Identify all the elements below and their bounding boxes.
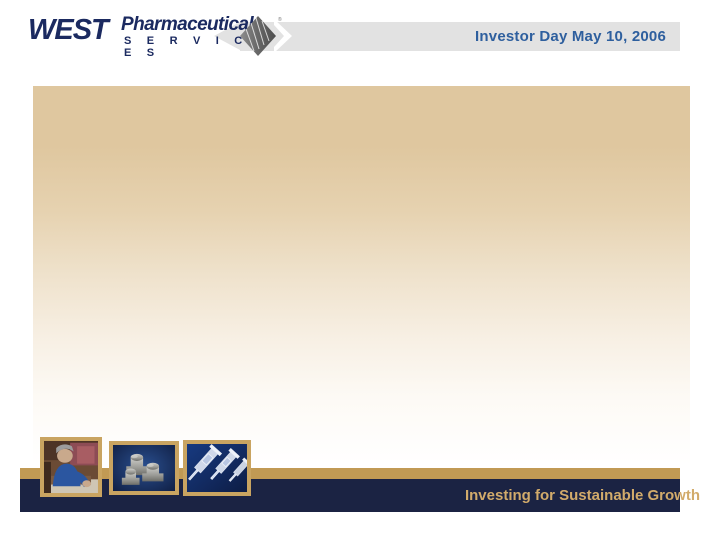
presentation-slide: Investor Day May 10, 2006 WEST Pharmaceu…	[0, 0, 720, 540]
west-diamond-chevron-icon	[240, 15, 296, 57]
logo-word-pharmaceutical: Pharmaceutical	[121, 14, 253, 36]
rubber-stoppers-photo	[109, 441, 179, 495]
footer-tagline: Investing for Sustainable Growth	[465, 479, 700, 512]
manufacturing-operator-photo	[40, 437, 102, 497]
header-band: Investor Day May 10, 2006	[240, 22, 680, 51]
west-pharmaceutical-logo: WEST Pharmaceutical S E R V I C E S	[28, 11, 268, 51]
slide-content-panel	[33, 86, 690, 465]
logo-word-west: WEST	[28, 14, 108, 47]
registered-trademark-icon: ®	[278, 17, 282, 23]
header-title: Investor Day May 10, 2006	[475, 22, 666, 51]
syringes-photo	[183, 440, 251, 496]
